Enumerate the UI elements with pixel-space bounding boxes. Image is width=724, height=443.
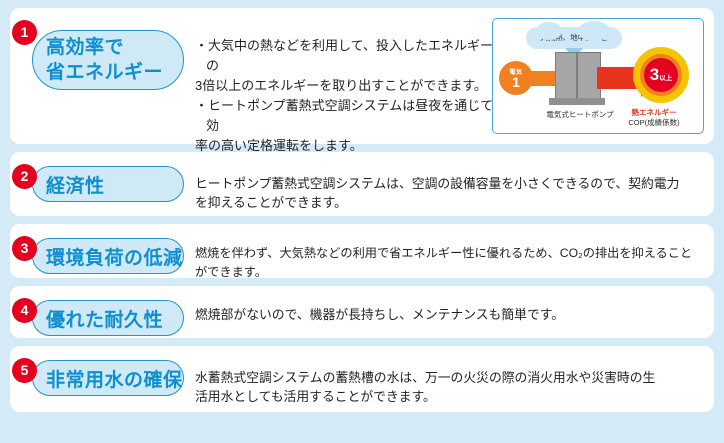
feature-title-1-line1: 高効率で <box>46 35 163 60</box>
feature-description-5: 水蓄熱式空調システムの蓄熱槽の水は、万一の火災の際の消火用水や災害時の生 活用水… <box>195 368 700 406</box>
output-value: 3 <box>650 58 659 92</box>
feature-card-5: 5 非常用水の確保 水蓄熱式空調システムの蓄熱槽の水は、万一の火災の際の消火用水… <box>10 346 714 412</box>
feature-card-2: 2 経済性 ヒートポンプ蓄熱式空調システムは、空調の設備容量を小さくできるので、… <box>10 152 714 216</box>
feature-title-1-line2: 省エネルギー <box>46 60 163 85</box>
feature-1-desc-line1: ・大気中の熱などを利用して、投入したエネルギーの <box>195 36 494 76</box>
badge-number-3: 3 <box>12 236 37 261</box>
feature-title-4: 優れた耐久性 <box>46 305 163 332</box>
badge-4: 4 <box>12 298 37 323</box>
electric-input-badge: 電気 1 <box>499 61 533 95</box>
heat-pump-unit-icon <box>555 52 601 102</box>
feature-title-2: 経済性 <box>46 171 105 198</box>
feature-1-desc-line3: ・ヒートポンプ蓄熱式空調システムは昼夜を通じて効 <box>195 96 494 136</box>
feature-card-4: 4 優れた耐久性 燃焼部がないので、機器が長持ちし、メンテナンスも簡単です。 <box>10 286 714 338</box>
features-page: 1 高効率で 省エネルギー ・大気中の熱などを利用して、投入したエネルギーの 3… <box>0 0 724 443</box>
feature-description-2: ヒートポンプ蓄熱式空調システムは、空調の設備容量を小さくできるので、契約電力 を… <box>195 174 700 212</box>
feature-title-pill-4[interactable]: 優れた耐久性 <box>32 300 184 336</box>
heat-output-sun-icon: 3 以上 <box>633 47 689 103</box>
sun-inner-ring: 3 以上 <box>640 54 682 96</box>
cloud-label: 大気熱、地中熱など <box>526 27 622 49</box>
feature-description-1: ・大気中の熱などを利用して、投入したエネルギーの 3倍以上のエネルギーを取り出す… <box>195 36 494 156</box>
badge-3: 3 <box>12 236 37 261</box>
feature-card-3: 3 環境負荷の低減 燃焼を伴わず、大気熱などの利用で省エネルギー性に優れるため、… <box>10 224 714 278</box>
feature-description-4: 燃焼部がないので、機器が長持ちし、メンテナンスも簡単です。 <box>195 305 700 324</box>
feature-title-pill-3[interactable]: 環境負荷の低減 <box>32 238 184 274</box>
feature-card-1: 1 高効率で 省エネルギー ・大気中の熱などを利用して、投入したエネルギーの 3… <box>10 8 714 144</box>
output-suffix: 以上 <box>659 72 672 82</box>
feature-1-desc-line2: 3倍以上のエネルギーを取り出すことができます。 <box>195 76 494 96</box>
feature-title-pill-5[interactable]: 非常用水の確保 <box>32 360 184 396</box>
feature-2-desc-line1: ヒートポンプ蓄熱式空調システムは、空調の設備容量を小さくできるので、契約電力 <box>195 174 700 193</box>
badge-5: 5 <box>12 358 37 383</box>
electric-value: 1 <box>499 76 533 89</box>
feature-5-desc-line2: 活用水としても活用することができます。 <box>195 387 700 406</box>
badge-number-4: 4 <box>12 298 37 323</box>
badge-number-2: 2 <box>12 164 37 189</box>
badge-1: 1 <box>12 20 37 45</box>
badge-number-5: 5 <box>12 358 37 383</box>
feature-2-desc-line2: を抑えることができます。 <box>195 193 700 212</box>
feature-4-desc-line1: 燃焼部がないので、機器が長持ちし、メンテナンスも簡単です。 <box>195 305 700 324</box>
heat-pump-diagram: 大気熱、地中熱など 電気 1 3 以上 電気式ヒートポンプ 熱エネ <box>492 18 704 134</box>
badge-2: 2 <box>12 164 37 189</box>
feature-5-desc-line1: 水蓄熱式空調システムの蓄熱槽の水は、万一の火災の際の消火用水や災害時の生 <box>195 368 700 387</box>
heat-pump-base-icon <box>549 98 605 105</box>
feature-title-3: 環境負荷の低減 <box>46 243 183 270</box>
feature-description-3: 燃焼を伴わず、大気熱などの利用で省エネルギー性に優れるため、CO₂の排出を抑える… <box>195 244 704 282</box>
cop-caption: COP(成績係数) <box>611 117 697 128</box>
feature-title-pill-2[interactable]: 経済性 <box>32 166 184 202</box>
feature-title-5: 非常用水の確保 <box>46 365 183 392</box>
sun-core: 3 以上 <box>644 58 678 92</box>
feature-3-desc-line1: 燃焼を伴わず、大気熱などの利用で省エネルギー性に優れるため、CO₂の排出を抑える… <box>195 244 704 282</box>
badge-number-1: 1 <box>12 20 37 45</box>
feature-title-pill-1[interactable]: 高効率で 省エネルギー <box>32 30 184 90</box>
